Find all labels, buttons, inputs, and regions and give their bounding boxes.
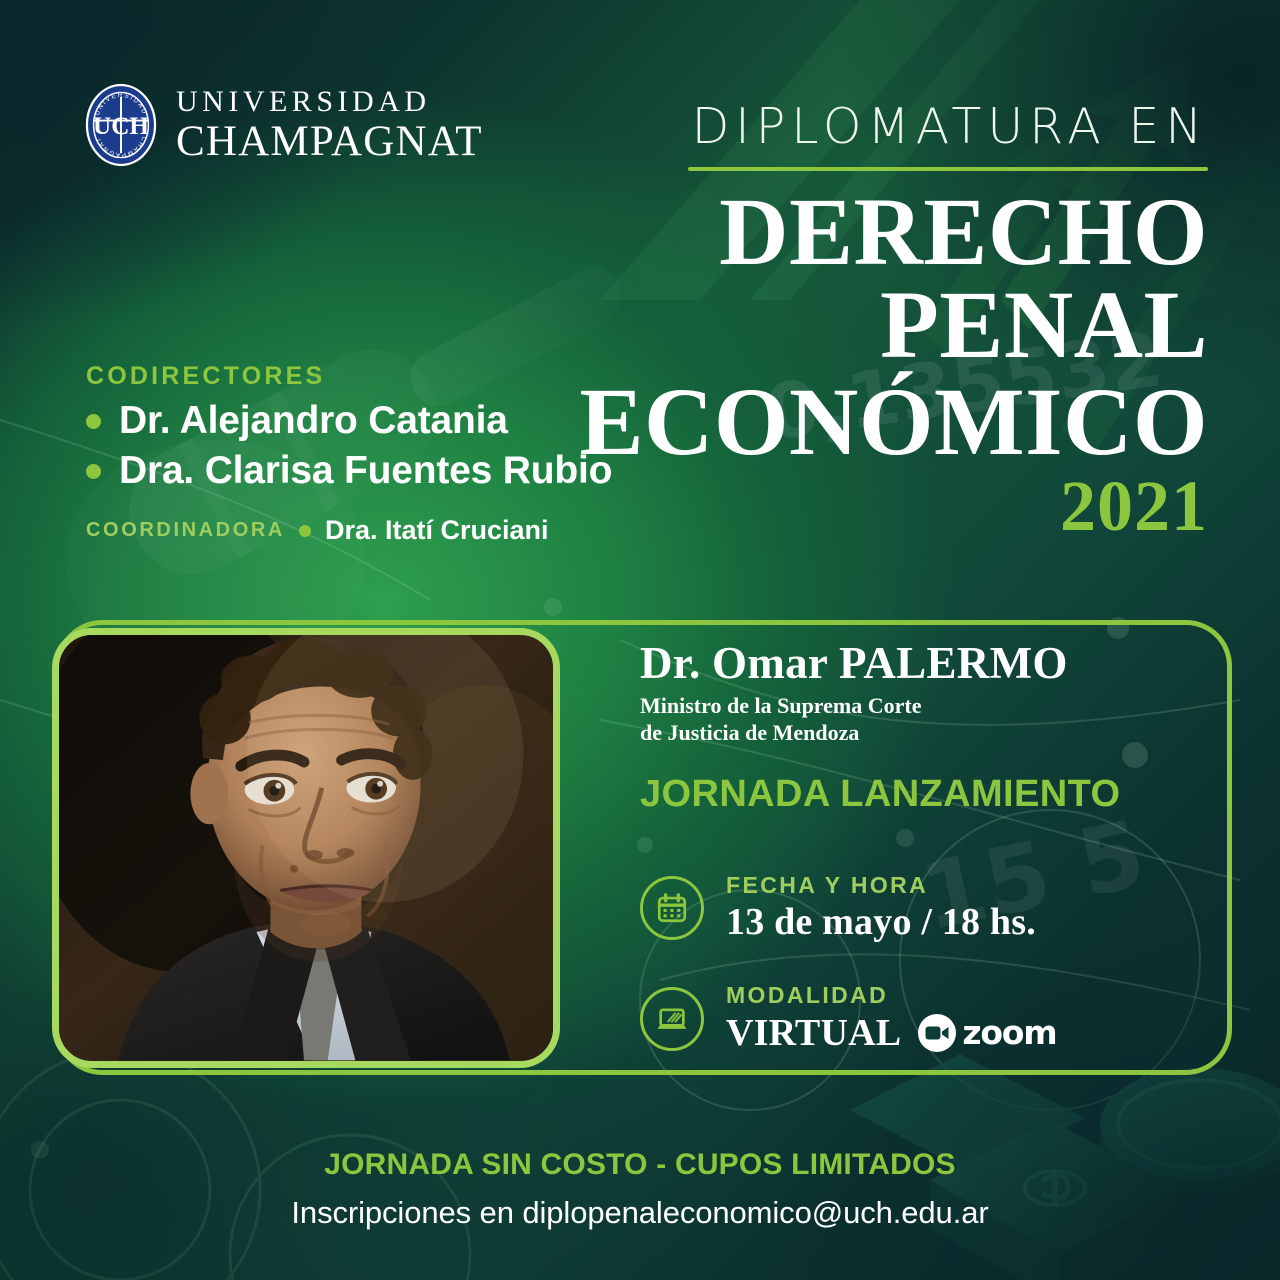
modality-label: MODALIDAD <box>726 982 1056 1009</box>
footer-contact: Inscripciones en diplopenaleconomico@uch… <box>0 1195 1280 1231</box>
footer-highlight: JORNADA SIN COSTO - CUPOS LIMITADOS <box>0 1148 1280 1182</box>
uch-crest-icon: UCH UNIVERSIDAD CHAMPAGNAT <box>84 82 158 168</box>
zoom-camera-icon <box>917 1013 957 1053</box>
director-name: Dra. Clarisa Fuentes Rubio <box>119 449 612 493</box>
modality-value: VIRTUAL <box>726 1011 901 1055</box>
date-label: FECHA Y HORA <box>726 872 1036 899</box>
coordinator-name: Dra. Itatí Cruciani <box>325 515 549 546</box>
director-name: Dr. Alejandro Catania <box>119 399 508 443</box>
speaker-role-line2: de Justicia de Mendoza <box>640 720 1220 747</box>
directors-block: CODIRECTORES Dr. Alejandro Catania Dra. … <box>86 362 706 546</box>
date-value: 13 de mayo / 18 hs. <box>726 900 1036 944</box>
zoom-logo: zoom <box>917 1013 1056 1053</box>
speaker-name: Dr. Omar PALERMO <box>640 640 1220 687</box>
list-item: Dra. Clarisa Fuentes Rubio <box>86 449 706 493</box>
detail-row-modality: MODALIDAD VIRTUAL zoom <box>640 982 1056 1055</box>
speaker-photo <box>52 628 560 1068</box>
detail-row-date: FECHA Y HORA 13 de mayo / 18 hs. <box>640 872 1036 944</box>
page-title-line1: DERECHO PENAL <box>418 185 1208 371</box>
zoom-wordmark: zoom <box>962 1013 1056 1052</box>
directors-heading: CODIRECTORES <box>86 362 706 391</box>
footer-block: JORNADA SIN COSTO - CUPOS LIMITADOS Insc… <box>0 1148 1280 1231</box>
calendar-icon <box>640 876 704 940</box>
bullet-icon <box>86 414 101 429</box>
laptop-icon <box>640 987 704 1051</box>
poster-canvas: 0,135532 15 5 UCH UNIVERSIDAD CHAMPAGNAT… <box>0 0 1280 1280</box>
speaker-info: Dr. Omar PALERMO Ministro de la Suprema … <box>640 640 1220 816</box>
eyebrow-text: DIPLOMATURA EN <box>418 98 1208 155</box>
coordinator-label: COORDINADORA <box>86 519 285 542</box>
event-type-label: JORNADA LANZAMIENTO <box>640 773 1220 816</box>
bullet-icon <box>299 525 311 537</box>
coordinator-row: COORDINADORA Dra. Itatí Cruciani <box>86 515 706 546</box>
list-item: Dr. Alejandro Catania <box>86 399 706 443</box>
speaker-portrait-illustration <box>59 635 553 1061</box>
speaker-role-line1: Ministro de la Suprema Corte <box>640 693 1220 720</box>
title-divider <box>688 167 1208 171</box>
bullet-icon <box>86 464 101 479</box>
